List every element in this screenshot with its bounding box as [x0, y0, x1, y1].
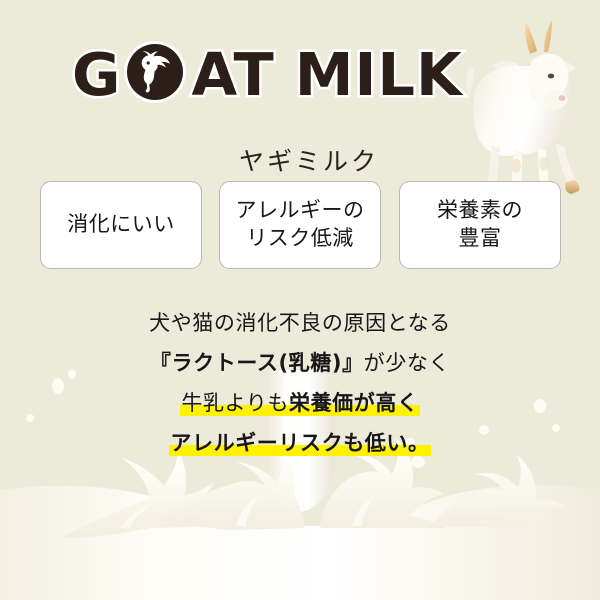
- copy-segment: 犬や猫の消化不良の原因となる: [149, 311, 451, 335]
- copy-segment: が少なく: [364, 351, 450, 375]
- copy-line-inner: 犬や猫の消化不良の原因となる: [149, 311, 451, 335]
- copy-line-2: 『ラクトース(乳糖)』が少なく: [0, 343, 600, 383]
- body-copy: 犬や猫の消化不良の原因となる 『ラクトース(乳糖)』が少なく 牛乳よりも栄養価が…: [0, 303, 600, 463]
- feature-box-allergy[interactable]: アレルギーの リスク低減: [219, 181, 381, 269]
- copy-line-inner: アレルギーリスクも低い。: [169, 431, 430, 455]
- copy-line-3: 牛乳よりも栄養価が高く: [0, 383, 600, 423]
- copy-segment-bold: アレルギーリスクも低い。: [170, 431, 429, 455]
- feature-label: 消化にいい: [67, 211, 175, 239]
- feature-box-digestion[interactable]: 消化にいい: [40, 181, 202, 269]
- copy-line-inner: 牛乳よりも栄養価が高く: [180, 391, 419, 415]
- copy-segment: 牛乳よりも: [181, 391, 289, 415]
- feature-label: アレルギーの リスク低減: [236, 197, 365, 252]
- feature-box-row: 消化にいい アレルギーの リスク低減 栄養素の 豊富: [0, 181, 600, 271]
- logo-letters-at: AT: [191, 45, 274, 104]
- logo-letters-milk: MILK: [295, 45, 463, 104]
- highlight-marker: 牛乳よりも栄養価が高く: [180, 383, 419, 423]
- poster-root: G AT MILK ヤギミルク: [0, 0, 600, 600]
- logo-wordmark: G AT MILK: [72, 38, 463, 110]
- highlight-marker: アレルギーリスクも低い。: [169, 423, 430, 463]
- copy-segment-bold: 『ラクトース(乳糖)』: [150, 351, 364, 375]
- copy-segment-bold: 栄養価が高く: [289, 391, 419, 415]
- feature-label: 栄養素の 豊富: [437, 197, 523, 252]
- logo-letter-g: G: [72, 45, 121, 104]
- copy-line-1: 犬や猫の消化不良の原因となる: [0, 303, 600, 343]
- goat-head-circle-icon: [124, 41, 186, 103]
- feature-box-nutrients[interactable]: 栄養素の 豊富: [399, 181, 561, 269]
- copy-line-inner: 『ラクトース(乳糖)』が少なく: [150, 351, 450, 375]
- copy-line-4: アレルギーリスクも低い。: [0, 423, 600, 463]
